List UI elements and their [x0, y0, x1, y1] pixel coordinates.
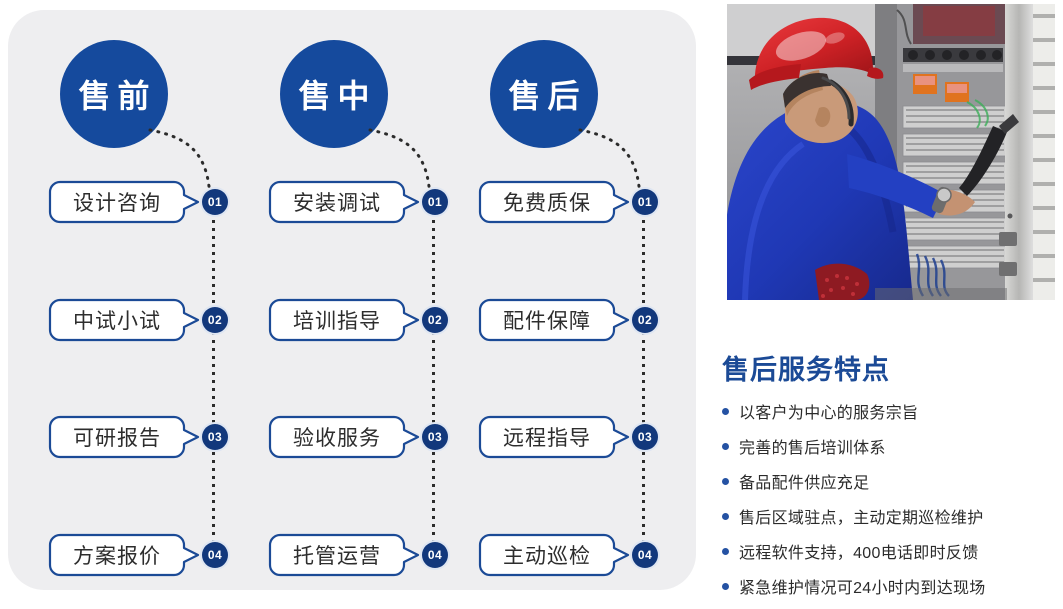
feature-text: 远程软件支持，400电话即时反馈 [739, 539, 979, 563]
step-pill[interactable]: 远程指导 [478, 415, 630, 459]
step-label: 可研报告 [48, 415, 186, 459]
after-sales-features: 售后服务特点 以客户为中心的服务宗旨 完善的售后培训体系 备品配件供应充足 售后… [722, 348, 1057, 609]
bullet-icon [722, 478, 729, 485]
step-pill[interactable]: 配件保障 [478, 298, 630, 342]
step-label: 培训指导 [268, 298, 406, 342]
badge-number: 03 [422, 424, 448, 450]
process-step[interactable]: 验收服务 03 [268, 415, 470, 459]
step-number-badge[interactable]: 02 [630, 305, 660, 335]
process-step[interactable]: 免费质保 01 [478, 180, 680, 224]
badge-number: 04 [202, 542, 228, 568]
step-number-badge[interactable]: 02 [200, 305, 230, 335]
features-title: 售后服务特点 [722, 348, 1057, 387]
step-label: 中试小试 [48, 298, 186, 342]
badge-number: 01 [422, 189, 448, 215]
step-label: 免费质保 [478, 180, 616, 224]
timeline-spine [212, 196, 215, 556]
feature-text: 以客户为中心的服务宗旨 [739, 399, 918, 423]
stage-circle-after-sales[interactable]: 售后 [490, 40, 598, 148]
feature-list-item: 以客户为中心的服务宗旨 [722, 399, 1057, 423]
step-number-badge[interactable]: 01 [200, 187, 230, 217]
process-step[interactable]: 配件保障 02 [478, 298, 680, 342]
stage-column-in-sales: 售中 安装调试 01 培训指导 [256, 10, 470, 590]
process-step[interactable]: 主动巡检 04 [478, 533, 680, 577]
step-pill[interactable]: 可研报告 [48, 415, 200, 459]
step-label: 托管运营 [268, 533, 406, 577]
badge-number: 03 [632, 424, 658, 450]
bullet-icon [722, 408, 729, 415]
stage-circle-in-sales[interactable]: 售中 [280, 40, 388, 148]
badge-number: 03 [202, 424, 228, 450]
feature-text: 完善的售后培训体系 [739, 434, 886, 458]
step-label: 配件保障 [478, 298, 616, 342]
feature-list-item: 完善的售后培训体系 [722, 434, 1057, 458]
feature-list-item: 备品配件供应充足 [722, 469, 1057, 493]
process-step[interactable]: 设计咨询 01 [48, 180, 250, 224]
badge-number: 04 [422, 542, 448, 568]
step-label: 主动巡检 [478, 533, 616, 577]
timeline-spine [432, 196, 435, 556]
technician-photo-illustration [727, 4, 1055, 300]
step-number-badge[interactable]: 04 [200, 540, 230, 570]
step-label: 设计咨询 [48, 180, 186, 224]
step-number-badge[interactable]: 04 [630, 540, 660, 570]
feature-text: 售后区域驻点，主动定期巡检维护 [739, 504, 984, 528]
step-label: 安装调试 [268, 180, 406, 224]
step-pill[interactable]: 中试小试 [48, 298, 200, 342]
step-number-badge[interactable]: 04 [420, 540, 450, 570]
step-label: 验收服务 [268, 415, 406, 459]
step-number-badge[interactable]: 01 [630, 187, 660, 217]
step-label: 远程指导 [478, 415, 616, 459]
feature-list-item: 远程软件支持，400电话即时反馈 [722, 539, 1057, 563]
step-number-badge[interactable]: 03 [630, 422, 660, 452]
stage-circle-pre-sales[interactable]: 售前 [60, 40, 168, 148]
bullet-icon [722, 583, 729, 590]
step-pill[interactable]: 设计咨询 [48, 180, 200, 224]
feature-text: 紧急维护情况可24小时内到达现场 [739, 574, 986, 598]
step-number-badge[interactable]: 01 [420, 187, 450, 217]
badge-number: 02 [202, 307, 228, 333]
badge-number: 02 [632, 307, 658, 333]
technician-photo [727, 4, 1055, 300]
step-pill[interactable]: 培训指导 [268, 298, 420, 342]
step-pill[interactable]: 免费质保 [478, 180, 630, 224]
stage-circle-label: 售中 [291, 71, 376, 117]
process-step[interactable]: 托管运营 04 [268, 533, 470, 577]
stage-column-after-sales: 售后 免费质保 01 配件保障 [466, 10, 680, 590]
process-step[interactable]: 远程指导 03 [478, 415, 680, 459]
step-pill[interactable]: 方案报价 [48, 533, 200, 577]
badge-number: 02 [422, 307, 448, 333]
stage-column-pre-sales: 售前 设计咨询 01 中试小试 [36, 10, 250, 590]
feature-text: 备品配件供应充足 [739, 469, 869, 493]
timeline-spine [642, 196, 645, 556]
process-panel: 售前 设计咨询 01 中试小试 [8, 10, 696, 590]
feature-list-item: 售后区域驻点，主动定期巡检维护 [722, 504, 1057, 528]
feature-list-item: 紧急维护情况可24小时内到达现场 [722, 574, 1057, 598]
bullet-icon [722, 548, 729, 555]
step-number-badge[interactable]: 03 [420, 422, 450, 452]
stage-circle-label: 售前 [71, 71, 156, 117]
step-pill[interactable]: 安装调试 [268, 180, 420, 224]
step-number-badge[interactable]: 03 [200, 422, 230, 452]
step-pill[interactable]: 主动巡检 [478, 533, 630, 577]
process-step[interactable]: 可研报告 03 [48, 415, 250, 459]
step-number-badge[interactable]: 02 [420, 305, 450, 335]
process-step[interactable]: 方案报价 04 [48, 533, 250, 577]
step-label: 方案报价 [48, 533, 186, 577]
step-pill[interactable]: 托管运营 [268, 533, 420, 577]
bullet-icon [722, 443, 729, 450]
badge-number: 01 [202, 189, 228, 215]
stage-circle-label: 售后 [501, 71, 586, 117]
process-step[interactable]: 中试小试 02 [48, 298, 250, 342]
bullet-icon [722, 513, 729, 520]
badge-number: 01 [632, 189, 658, 215]
badge-number: 04 [632, 542, 658, 568]
process-step[interactable]: 培训指导 02 [268, 298, 470, 342]
step-pill[interactable]: 验收服务 [268, 415, 420, 459]
process-step[interactable]: 安装调试 01 [268, 180, 470, 224]
